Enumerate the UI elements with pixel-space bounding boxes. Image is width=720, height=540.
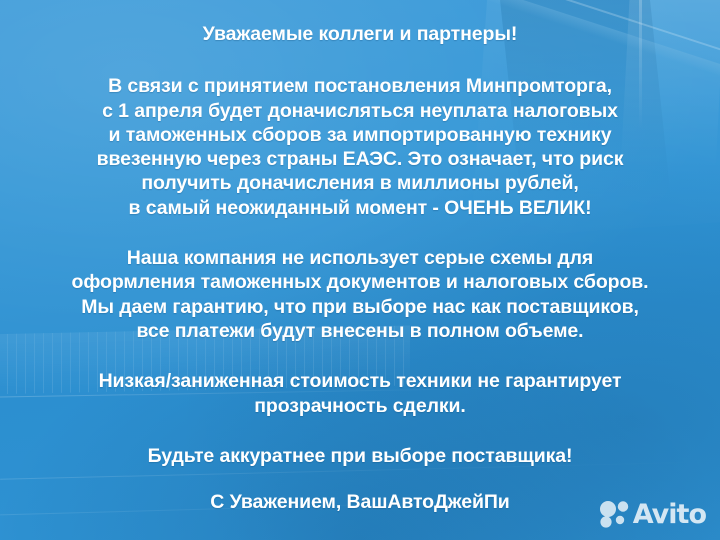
- paragraph-company-guarantee: Наша компания не использует серые схемы …: [18, 246, 702, 343]
- text-line: Будьте аккуратнее при выборе поставщика!: [18, 444, 702, 468]
- text-line: получить доначисления в миллионы рублей,: [18, 171, 702, 195]
- text-line: оформления таможенных документов и налог…: [18, 270, 702, 294]
- spacer: [18, 468, 702, 490]
- avito-wordmark: Avito: [633, 501, 706, 528]
- text-line: в самый неожиданный момент - ОЧЕНЬ ВЕЛИК…: [18, 196, 702, 220]
- notice-text-block: Уважаемые коллеги и партнеры! В связи с …: [0, 0, 720, 540]
- text-line: Мы даем гарантию, что при выборе нас как…: [18, 295, 702, 319]
- text-line: Низкая/заниженная стоимость техники не г…: [18, 369, 702, 393]
- notice-image: Уважаемые коллеги и партнеры! В связи с …: [0, 0, 720, 540]
- spacer: [18, 343, 702, 369]
- paragraph-call-to-action: Будьте аккуратнее при выборе поставщика!: [18, 444, 702, 468]
- paragraph-price-warning: Низкая/заниженная стоимость техники не г…: [18, 369, 702, 418]
- spacer: [18, 418, 702, 444]
- greeting-line: Уважаемые коллеги и партнеры!: [18, 22, 702, 46]
- text-line: ввезенную через страны ЕАЭС. Это означае…: [18, 147, 702, 171]
- spacer: [18, 46, 702, 74]
- text-line: и таможенных сборов за импортированную т…: [18, 123, 702, 147]
- text-line: прозрачность сделки.: [18, 394, 702, 418]
- text-line: Наша компания не использует серые схемы …: [18, 246, 702, 270]
- text-line: В связи с принятием постановления Минпро…: [18, 74, 702, 98]
- avito-watermark: Avito: [599, 500, 706, 528]
- paragraph-regulation-warning: В связи с принятием постановления Минпро…: [18, 74, 702, 220]
- text-line: все платежи будут внесены в полном объем…: [18, 319, 702, 343]
- spacer: [18, 220, 702, 246]
- avito-dots-icon: [599, 500, 629, 528]
- text-line: с 1 апреля будет доначисляться неуплата …: [18, 99, 702, 123]
